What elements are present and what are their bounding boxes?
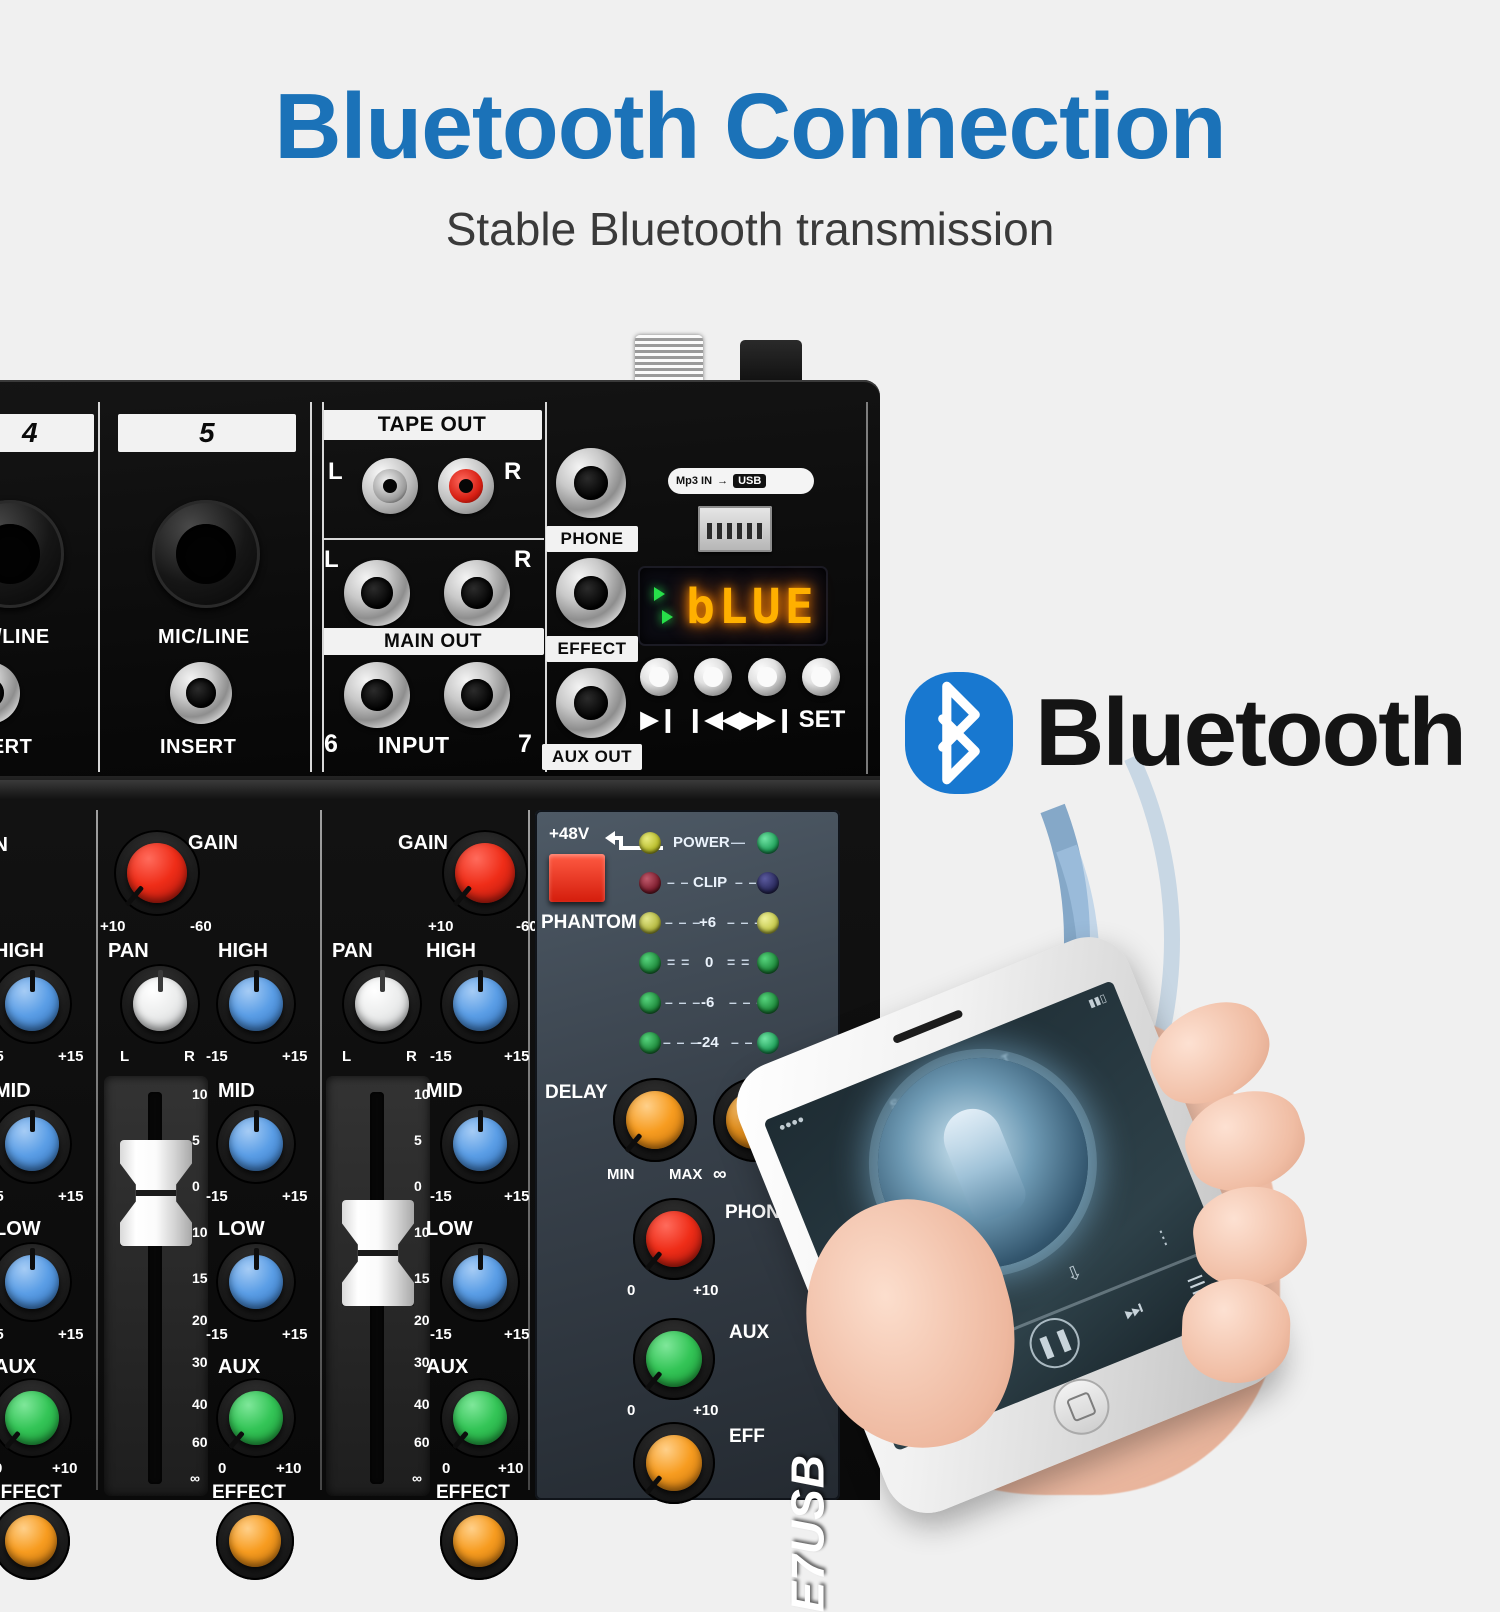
scale-value: 30 <box>414 1354 430 1370</box>
scale-value: 15 <box>414 1270 430 1286</box>
strip-a-low-label: LOW <box>0 1218 41 1241</box>
input-7-number: 7 <box>518 730 532 759</box>
delay-max-label: MAX <box>669 1166 702 1183</box>
tape-out-title: TAPE OUT <box>322 410 542 440</box>
meter-led-left-minus24 <box>639 1032 661 1054</box>
channel-4-xlr-jack[interactable] <box>0 500 64 608</box>
fader-scale-b: 10 5 0 10 15 20 30 40 60 ∞ <box>398 1086 458 1486</box>
phantom-voltage-label: +48V <box>549 824 589 844</box>
tape-out-right-rca[interactable] <box>438 458 494 514</box>
scale-value: 10 <box>414 1086 430 1102</box>
channel-4-insert-jack[interactable] <box>0 662 20 724</box>
strip-a-mid-max: +15 <box>58 1188 83 1205</box>
master-phone-min: 0 <box>627 1282 635 1299</box>
effect-c-knob[interactable] <box>440 1502 518 1580</box>
strip-a-low-min: -15 <box>0 1326 4 1343</box>
effect-c-label: EFFECT <box>436 1482 510 1504</box>
input-6-jack[interactable] <box>344 662 410 728</box>
scale-value: 30 <box>192 1354 208 1370</box>
download-icon[interactable]: ⇩ <box>1063 1261 1086 1288</box>
meter-dash-zero-right: = = <box>727 954 750 970</box>
input-row-title: INPUT <box>378 732 450 759</box>
meter-dash-zero-left: = = <box>667 954 690 970</box>
scale-value: 40 <box>192 1396 208 1412</box>
scale-value: 10 <box>414 1224 430 1240</box>
strip-a-gain-label: GAIN <box>0 834 8 857</box>
pan-b-left: L <box>342 1048 351 1065</box>
pan-a-right: R <box>184 1048 195 1065</box>
strip-b-mid-max: +15 <box>282 1188 307 1205</box>
panel-divider <box>545 402 547 772</box>
master-eff-label: EFF <box>729 1426 765 1448</box>
strip-b-gain-min: +10 <box>100 918 125 935</box>
effect-a-knob[interactable] <box>0 1502 70 1580</box>
scale-value: 60 <box>192 1434 208 1450</box>
effect-b-knob[interactable] <box>216 1502 294 1580</box>
main-out-title: MAIN OUT <box>322 628 544 655</box>
pan-a-knob[interactable] <box>120 964 200 1044</box>
master-phone-max: +10 <box>693 1282 718 1299</box>
meter-led-left-zero <box>639 952 661 974</box>
strip-a-mid-knob[interactable] <box>0 1104 72 1184</box>
bluetooth-logo: Bluetooth <box>905 672 1465 794</box>
master-eff-knob[interactable] <box>633 1422 715 1504</box>
pan-a-label: PAN <box>108 940 149 963</box>
strip-c-mid-max: +15 <box>504 1188 529 1205</box>
meter-led-right-minus6 <box>757 992 779 1014</box>
set-button[interactable] <box>802 658 840 696</box>
scale-value: 10 <box>192 1224 208 1240</box>
meter-label-power: POWER <box>673 834 730 851</box>
tape-out-left-label: L <box>328 458 343 486</box>
effect-out-jack[interactable] <box>556 558 626 628</box>
smartphone-in-hand: ●●●● ▮▮▯ Something Just Like T The Chain… <box>790 985 1310 1500</box>
strip-c-high-min: -15 <box>430 1048 452 1065</box>
channel-5-number: 5 <box>118 414 296 452</box>
meter-dash-clip-right: – – <box>735 874 757 890</box>
control-deck: GAIN HIGH -15 +15 MID -15 +15 LOW -15 +1… <box>0 800 880 1500</box>
effect-b-label: EFFECT <box>212 1482 286 1504</box>
tape-out-right-label: R <box>504 458 522 486</box>
strip-b-high-min: -15 <box>206 1048 228 1065</box>
bluetooth-indicator-arrow-lower <box>662 610 673 624</box>
strip-a-low-max: +15 <box>58 1326 83 1343</box>
master-aux-max: +10 <box>693 1402 718 1419</box>
main-out-right-jack[interactable] <box>444 560 510 626</box>
scale-value: 10 <box>192 1086 208 1102</box>
status-signal: ●●●● <box>777 1113 806 1134</box>
strip-c-high-knob[interactable] <box>440 964 520 1044</box>
pan-b-right: R <box>406 1048 417 1065</box>
meter-led-left-power <box>639 832 661 854</box>
phone-out-jack[interactable] <box>556 448 626 518</box>
strip-a-aux-label: AUX <box>0 1356 36 1379</box>
meter-led-left-minus6 <box>639 992 661 1014</box>
scale-value: 0 <box>192 1178 200 1194</box>
bluetooth-indicator-arrow-upper <box>654 587 665 601</box>
strip-b-aux-max: +10 <box>276 1460 301 1477</box>
master-phone-knob[interactable] <box>633 1198 715 1280</box>
meter-label-clip: CLIP <box>693 874 727 891</box>
channel-5-xlr-jack[interactable] <box>152 500 260 608</box>
meter-led-left-clip <box>639 872 661 894</box>
meter-dash-minus6-left: – – – <box>665 994 701 1010</box>
delay-min-label: MIN <box>607 1166 635 1183</box>
meter-dash-power: — <box>731 834 746 850</box>
channel-4-miclin-label: MIC/LINE <box>0 626 50 649</box>
meter-label-minus24: -24 <box>697 1034 719 1051</box>
strip-b-gain-knob[interactable] <box>114 830 200 916</box>
strip-a-aux-min: 0 <box>0 1460 2 1477</box>
led-display-text: bLUE <box>686 579 818 635</box>
audio-mixer-device: 4 MIC/LINE INSERT 5 MIC/LINE INSERT TAPE… <box>0 380 880 1500</box>
top-connector-panel: 4 MIC/LINE INSERT 5 MIC/LINE INSERT TAPE… <box>0 380 880 780</box>
play-pause-icon: ▶❙ <box>632 706 686 733</box>
scale-value: 60 <box>414 1434 430 1450</box>
usb-chip-text: USB <box>733 474 766 488</box>
delay-label: DELAY <box>545 1082 608 1104</box>
panel-divider <box>322 538 544 540</box>
bluetooth-rune-icon <box>905 672 1013 794</box>
master-aux-knob[interactable] <box>633 1318 715 1400</box>
tape-out-left-rca[interactable] <box>362 458 418 514</box>
led-display: bLUE <box>640 568 826 644</box>
scale-value: 15 <box>192 1270 208 1286</box>
scale-value: 40 <box>414 1396 430 1412</box>
meter-dash-minus24-left: – – – <box>663 1034 699 1050</box>
strip-c-high-max: +15 <box>504 1048 529 1065</box>
panel-edge <box>866 402 868 774</box>
deck-bevel <box>0 780 880 802</box>
play-pause-button[interactable] <box>640 658 678 696</box>
panel-divider <box>310 402 312 772</box>
scale-value: 0 <box>414 1178 422 1194</box>
next-button[interactable] <box>748 658 786 696</box>
meter-led-right-clip <box>757 872 779 894</box>
meter-label-plus6: +6 <box>699 914 716 931</box>
meter-label-zero: 0 <box>705 954 713 971</box>
input-6-number: 6 <box>324 730 338 759</box>
bluetooth-wordmark: Bluetooth <box>1035 685 1465 781</box>
strip-a-mid-min: -15 <box>0 1188 4 1205</box>
lamp-socket-connector <box>635 335 703 383</box>
strip-divider <box>320 810 322 1490</box>
effect-out-label: EFFECT <box>546 636 638 662</box>
main-out-right-label: R <box>514 546 532 574</box>
master-aux-label: AUX <box>729 1322 769 1344</box>
phone-out-label: PHONE <box>546 526 638 552</box>
effect-a-label: EFFECT <box>0 1482 62 1504</box>
fader-scale-a: 10 5 0 10 15 20 30 40 60 ∞ <box>176 1086 236 1486</box>
fingers <box>1090 1007 1305 1427</box>
strip-c-high-label: HIGH <box>426 940 476 963</box>
mp3-in-text: Mp3 IN <box>676 475 712 487</box>
channel-4-number: 4 <box>0 414 94 452</box>
meter-dash-plus6-left: – – – <box>665 914 701 930</box>
previous-icon: ❙◀◀ <box>684 706 742 733</box>
strip-c-gain-label: GAIN <box>398 832 448 855</box>
panel-divider <box>322 402 324 772</box>
scale-value: 20 <box>192 1312 208 1328</box>
strip-c-gain-min: +10 <box>428 918 453 935</box>
set-label: SET <box>794 706 850 734</box>
channel-5-insert-label: INSERT <box>160 736 236 759</box>
delay-knob[interactable] <box>613 1078 697 1162</box>
previous-button[interactable] <box>694 658 732 696</box>
phantom-label: PHANTOM <box>541 912 637 934</box>
next-icon: ▶▶❙ <box>738 706 796 733</box>
pan-a-left: L <box>120 1048 129 1065</box>
strip-a-mid-label: MID <box>0 1080 31 1103</box>
strip-b-high-label: HIGH <box>218 940 268 963</box>
page-subtitle: Stable Bluetooth transmission <box>446 202 1055 256</box>
meter-led-right-plus6 <box>757 912 779 934</box>
rear-panel-tab <box>740 340 802 384</box>
scale-value: ∞ <box>190 1470 200 1486</box>
strip-b-low-max: +15 <box>282 1326 307 1343</box>
usb-port-icon[interactable] <box>698 506 772 552</box>
strip-c-aux-max: +10 <box>498 1460 523 1477</box>
channel-4-insert-label: INSERT <box>0 736 32 759</box>
strip-b-gain-max: -60 <box>190 918 212 935</box>
strip-a-low-knob[interactable] <box>0 1242 72 1322</box>
main-out-left-label: L <box>324 546 339 574</box>
phantom-power-button[interactable] <box>549 854 605 902</box>
strip-a-high-label: HIGH <box>0 940 44 963</box>
scale-value: ∞ <box>412 1470 422 1486</box>
meter-dash-clip-left: – – <box>667 874 689 890</box>
strip-divider <box>528 810 530 1490</box>
panel-divider <box>98 402 100 772</box>
meter-led-right-minus24 <box>757 1032 779 1054</box>
strip-b-high-max: +15 <box>282 1048 307 1065</box>
meter-label-minus6: -6 <box>701 994 714 1011</box>
input-7-jack[interactable] <box>444 662 510 728</box>
repeat-min-label: ∞ <box>713 1164 727 1186</box>
strip-b-high-knob[interactable] <box>216 964 296 1044</box>
strip-divider <box>96 810 98 1490</box>
aux-out-jack[interactable] <box>556 668 626 738</box>
strip-a-aux-knob[interactable] <box>0 1378 72 1458</box>
channel-5-miclin-label: MIC/LINE <box>158 626 250 649</box>
channel-5-insert-jack[interactable] <box>170 662 232 724</box>
scale-value: 5 <box>414 1132 422 1148</box>
pan-b-knob[interactable] <box>342 964 422 1044</box>
strip-a-high-min: -15 <box>0 1048 4 1065</box>
aux-out-label: AUX OUT <box>542 744 642 770</box>
main-out-left-jack[interactable] <box>344 560 410 626</box>
page-title: Bluetooth Connection <box>274 78 1225 176</box>
meter-led-right-zero <box>757 952 779 974</box>
strip-c-gain-knob[interactable] <box>442 830 528 916</box>
strip-b-gain-label: GAIN <box>188 832 238 855</box>
page-header: Bluetooth Connection Stable Bluetooth tr… <box>0 0 1500 330</box>
arrow-right-icon: → <box>717 475 728 487</box>
scale-value: 20 <box>414 1312 430 1328</box>
pan-b-label: PAN <box>332 940 373 963</box>
strip-a-aux-max: +10 <box>52 1460 77 1477</box>
meter-led-left-plus6 <box>639 912 661 934</box>
scale-value: 5 <box>192 1132 200 1148</box>
master-aux-min: 0 <box>627 1402 635 1419</box>
strip-c-low-max: +15 <box>504 1326 529 1343</box>
meter-led-right-power <box>757 832 779 854</box>
strip-a-high-max: +15 <box>58 1048 83 1065</box>
mp3-in-usb-label: Mp3 IN → USB <box>668 468 814 494</box>
strip-a-high-knob[interactable] <box>0 964 72 1044</box>
